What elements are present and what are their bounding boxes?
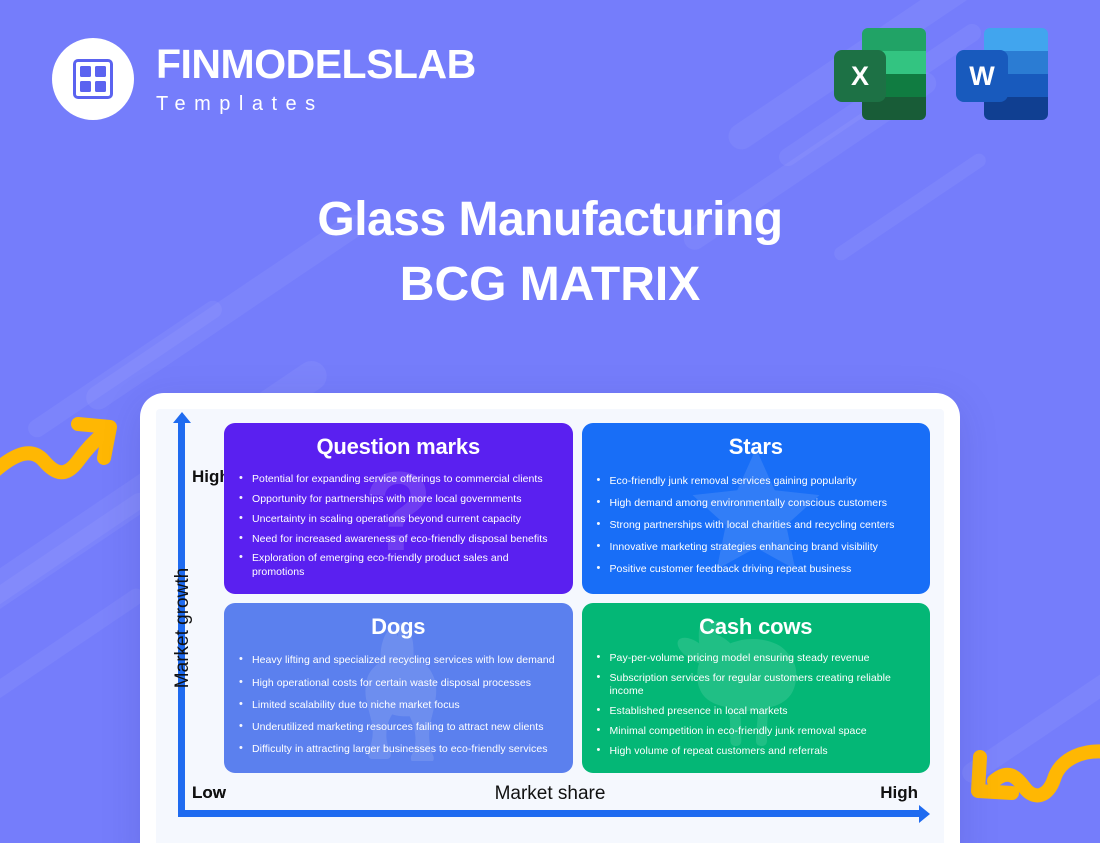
header: FINMODELSLAB Templates X W (0, 0, 1100, 160)
x-axis-low-label: Low (192, 783, 226, 803)
office-format-icons: X W (834, 28, 1048, 120)
x-axis-high-label: High (880, 783, 918, 803)
list-item: Potential for expanding service offering… (237, 473, 560, 486)
y-axis-label: Market growth (172, 568, 194, 688)
bullet-list-stars: Eco-friendly junk removal services gaini… (595, 466, 918, 586)
word-icon[interactable]: W (956, 28, 1048, 120)
quadrant-title-question-marks: Question marks (237, 434, 560, 460)
list-item: Difficulty in attracting larger business… (237, 743, 560, 756)
bullet-list-cash-cows: Pay-per-volume pricing model ensuring st… (595, 646, 918, 766)
brand-subtitle: Templates (156, 94, 476, 114)
title-line-1: Glass Manufacturing (0, 192, 1100, 249)
quadrant-question-marks[interactable]: ? Question marks Potential for expanding… (224, 423, 573, 594)
list-item: Opportunity for partnerships with more l… (237, 493, 560, 506)
bullet-list-question-marks: Potential for expanding service offering… (237, 466, 560, 586)
list-item: Eco-friendly junk removal services gaini… (595, 475, 918, 488)
list-item: High volume of repeat customers and refe… (595, 745, 918, 758)
list-item: High operational costs for certain waste… (237, 677, 560, 690)
bcg-matrix-panel: High Low Market growth Market share High… (156, 409, 944, 843)
list-item: Subscription services for regular custom… (595, 672, 918, 698)
list-item: Limited scalability due to niche market … (237, 699, 560, 712)
bullet-list-dogs: Heavy lifting and specialized recycling … (237, 646, 560, 766)
brand-text: FINMODELSLAB Templates (156, 44, 476, 114)
quadrant-grid: ? Question marks Potential for expanding… (224, 423, 930, 773)
title-line-2: BCG MATRIX (0, 257, 1100, 314)
grid-squares-icon (73, 59, 113, 99)
quadrant-cash-cows[interactable]: Cash cows Pay-per-volume pricing model e… (582, 603, 931, 774)
page-title: Glass Manufacturing BCG MATRIX (0, 192, 1100, 313)
list-item: Need for increased awareness of eco-frie… (237, 533, 560, 546)
squiggle-arrow-down-left-icon (964, 735, 1100, 840)
brand-logo: FINMODELSLAB Templates (52, 38, 476, 120)
list-item: Uncertainty in scaling operations beyond… (237, 513, 560, 526)
squiggle-arrow-up-right-icon (0, 405, 127, 500)
list-item: Pay-per-volume pricing model ensuring st… (595, 652, 918, 665)
list-item: High demand among environmentally consci… (595, 497, 918, 510)
list-item: Positive customer feedback driving repea… (595, 563, 918, 576)
quadrant-stars[interactable]: Stars Eco-friendly junk removal services… (582, 423, 931, 594)
list-item: Minimal competition in eco-friendly junk… (595, 725, 918, 738)
excel-icon[interactable]: X (834, 28, 926, 120)
quadrant-title-dogs: Dogs (237, 614, 560, 640)
word-badge: W (956, 50, 1008, 102)
list-item: Heavy lifting and specialized recycling … (237, 654, 560, 667)
list-item: Exploration of emerging eco-friendly pro… (237, 552, 560, 578)
brand-name: FINMODELSLAB (156, 44, 476, 85)
quadrant-title-stars: Stars (595, 434, 918, 460)
excel-badge: X (834, 50, 886, 102)
logo-circle (52, 38, 134, 120)
x-axis-arrow (178, 810, 920, 817)
quadrant-title-cash-cows: Cash cows (595, 614, 918, 640)
list-item: Innovative marketing strategies enhancin… (595, 541, 918, 554)
list-item: Underutilized marketing resources failin… (237, 721, 560, 734)
list-item: Established presence in local markets (595, 705, 918, 718)
matrix-card: High Low Market growth Market share High… (140, 393, 960, 843)
x-axis-label: Market share (156, 783, 944, 805)
quadrant-dogs[interactable]: Dogs Heavy lifting and specialized recyc… (224, 603, 573, 774)
list-item: Strong partnerships with local charities… (595, 519, 918, 532)
